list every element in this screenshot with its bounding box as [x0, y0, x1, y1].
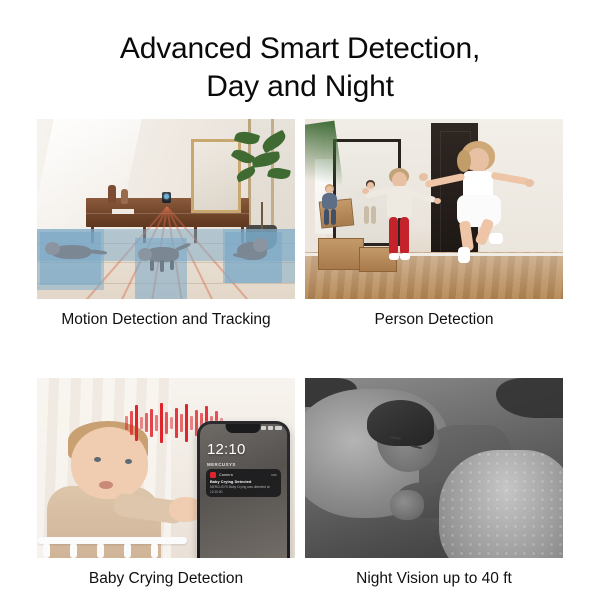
sleeping-child-hand — [390, 490, 424, 521]
feature-caption: Motion Detection and Tracking — [37, 310, 295, 330]
smartphone: 12:10 MERCUSYS Camera now Baby Crying De… — [197, 421, 290, 558]
nursery-scene: 12:10 MERCUSYS Camera now Baby Crying De… — [37, 378, 295, 558]
crib-top-rail — [37, 537, 187, 544]
page-title-line-1: Advanced Smart Detection, — [120, 32, 480, 65]
person-detection-image — [305, 119, 563, 299]
motion-detection-image — [37, 119, 295, 299]
security-camera-device — [162, 192, 171, 203]
feature-card-motion-detection: Motion Detection and Tracking — [37, 119, 295, 330]
moving-box-1 — [318, 238, 364, 271]
notification-timestamp: now — [271, 473, 277, 477]
notification-header: Camera now — [210, 472, 277, 478]
plant-trunk — [261, 202, 263, 231]
marketing-feature-page: Advanced Smart Detection, Day and Night — [0, 0, 600, 600]
page-title-line-2: Day and Night — [0, 68, 600, 106]
feature-caption: Person Detection — [305, 310, 563, 330]
page-title: Advanced Smart Detection, Day and Night — [0, 30, 600, 106]
feature-card-baby-crying-detection: 12:10 MERCUSYS Camera now Baby Crying De… — [37, 378, 295, 589]
feature-row-bottom: 12:10 MERCUSYS Camera now Baby Crying De… — [37, 378, 563, 589]
app-label: MERCUSYS — [207, 462, 236, 467]
feature-card-night-vision: Night Vision up to 40 ft — [305, 378, 563, 589]
feature-caption: Baby Crying Detection — [37, 569, 295, 589]
night-vision-scene — [305, 378, 563, 558]
feature-row-top: Motion Detection and Tracking — [37, 119, 563, 330]
notification-title: Baby Crying Detected — [210, 480, 277, 484]
feature-caption: Night Vision up to 40 ft — [305, 569, 563, 589]
phone-status-icons — [261, 426, 282, 430]
vase-light — [121, 189, 128, 204]
phone-screen[interactable]: 12:10 MERCUSYS Camera now Baby Crying De… — [200, 424, 287, 558]
notification-body: MERCUSYS Baby Crying was detected at 12:… — [210, 485, 277, 494]
books-stack — [112, 209, 134, 214]
feature-grid: Motion Detection and Tracking — [37, 119, 563, 589]
baby-crying-detection-image: 12:10 MERCUSYS Camera now Baby Crying De… — [37, 378, 295, 558]
baby-mouth — [99, 481, 113, 489]
vase-dark — [108, 185, 116, 203]
living-room-scene — [37, 119, 295, 299]
blanket — [439, 450, 563, 558]
phone-notch — [226, 424, 261, 433]
notification-card[interactable]: Camera now Baby Crying Detected MERCUSYS… — [206, 469, 281, 497]
notification-app-name: Camera — [219, 473, 233, 477]
crib-rail — [37, 504, 187, 558]
hallway-scene — [305, 119, 563, 299]
lock-screen-clock: 12:10 — [207, 441, 246, 458]
night-vision-image — [305, 378, 563, 558]
camera-app-icon — [210, 472, 216, 478]
feature-card-person-detection: Person Detection — [305, 119, 563, 330]
